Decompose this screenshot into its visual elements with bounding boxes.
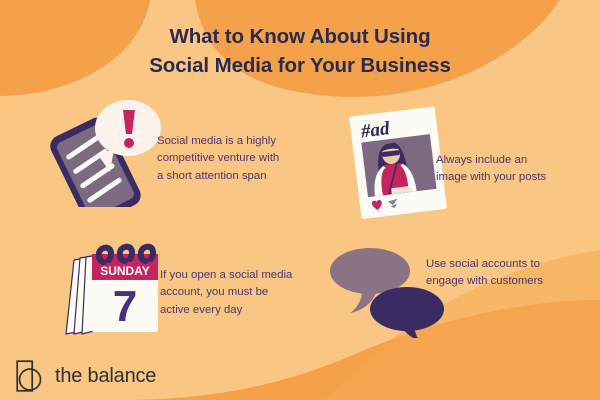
tip-text-engage-with-customers: Use social accounts to engage with custo…: [426, 256, 582, 291]
calendar-day-label: SUNDAY: [100, 264, 150, 278]
tip-text-competitive-venture: Social media is a highly competitive ven…: [157, 133, 309, 185]
phone-with-alert-speech-bubble-icon: [40, 92, 165, 207]
the-balance-logo-text: the balance: [55, 366, 156, 386]
tip-text-include-image: Always include an image with your posts: [436, 152, 586, 187]
calendar-date: 7: [113, 282, 137, 331]
the-balance-logo-mark: [16, 360, 46, 392]
page-title: What to Know About Using Social Media fo…: [0, 22, 600, 80]
tip-text-active-every-day: If you open a social media account, you …: [160, 267, 318, 319]
svg-text:#ad: #ad: [359, 118, 391, 142]
the-balance-logo: the balance: [16, 360, 156, 392]
desk-calendar-icon: SUNDAY 7: [52, 238, 170, 342]
infographic-canvas: What to Know About Using Social Media fo…: [0, 0, 600, 400]
